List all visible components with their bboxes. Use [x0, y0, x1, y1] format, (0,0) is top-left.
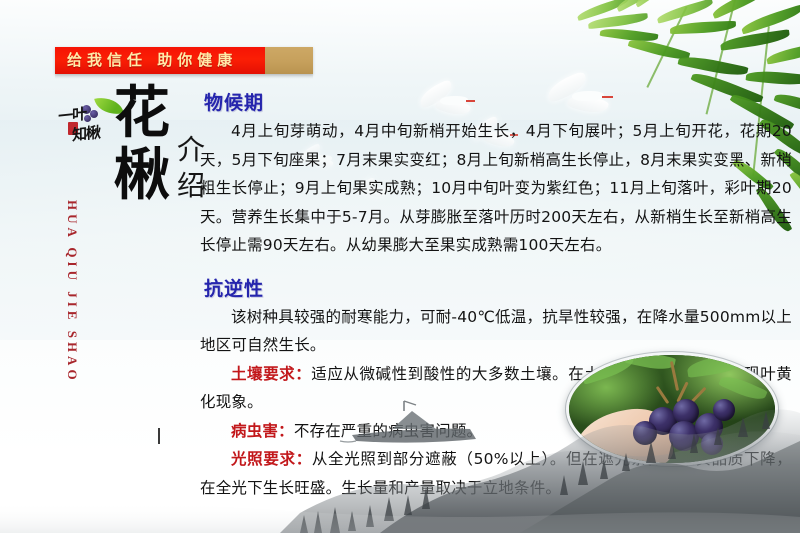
item-text-pest: 不存在严重的病虫害问题。 — [294, 422, 482, 440]
brand-title-block: 一叶 知楸 花 楸 介 绍 HUA QIU JIE SHAO — [58, 88, 208, 388]
poster-canvas: 给我信任 助你健康 一叶 知楸 花 楸 介 绍 HUA QIU JIE SHAO — [0, 0, 800, 533]
section-body-phenology: 4月上旬芽萌动，4月中旬新梢开始生长，4月下旬展叶；5月上旬开花，花期20天，5… — [200, 117, 792, 260]
item-label-pest: 病虫害： — [231, 422, 294, 440]
banner-gold-accent — [265, 47, 313, 74]
photo-berry — [633, 421, 657, 445]
section-heading-phenology: 物候期 — [204, 88, 792, 115]
ink-water-wash — [0, 502, 800, 533]
photo-berry — [701, 433, 723, 455]
banner-shadow — [55, 74, 313, 79]
logo-text-line2: 知楸 — [72, 121, 100, 145]
decorative-stem — [158, 428, 160, 444]
section-phenology: 物候期 4月上旬芽萌动，4月中旬新梢开始生长，4月下旬展叶；5月上旬开花，花期2… — [200, 88, 792, 260]
title-char-2: 楸 — [110, 144, 174, 206]
title-char-1: 花 — [110, 82, 174, 144]
photo-berry — [713, 399, 735, 421]
title-characters: 花 楸 — [110, 82, 174, 206]
title-pinyin: HUA QIU JIE SHAO — [64, 200, 80, 384]
section-heading-stress-resistance: 抗逆性 — [204, 274, 792, 301]
section-body-stress-resistance: 该树种具较强的耐寒能力，可耐-40℃低温，抗旱性较强，在降水量500mm以上地区… — [200, 303, 792, 360]
fruit-photo — [566, 352, 778, 466]
item-label-light: 光照要求： — [231, 450, 312, 468]
item-label-soil: 土壤要求： — [231, 365, 311, 383]
